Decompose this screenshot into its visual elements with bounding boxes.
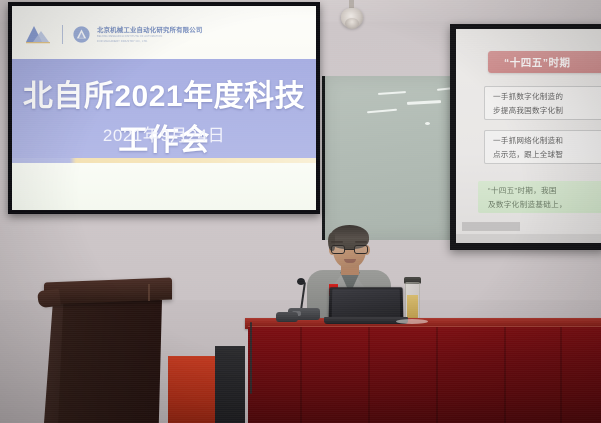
- content-highlight-line-2: 及数字化制造基础上，: [488, 200, 601, 211]
- content-box-2: 一手抓网络化制造和 点示范，跟上全球智: [484, 130, 601, 164]
- company-badge-icon: [73, 26, 90, 43]
- chalk-mark: [367, 109, 397, 114]
- content-box-1-line-1: 一手抓数字化制造的: [493, 92, 601, 103]
- title-slide: 北京机械工业自动化研究所有限公司 BEIJING RESEARCH INSTIT…: [12, 6, 316, 210]
- slide-footer-area: [12, 163, 316, 210]
- podium-seam: [148, 284, 150, 301]
- content-slide-bottom-margin: [456, 234, 601, 243]
- slide-date: 2021年9月24日: [12, 121, 316, 146]
- content-slide-header: “十四五”时期: [488, 51, 601, 73]
- microphone-capsule-icon: [297, 278, 305, 285]
- slide-logo-row: 北京机械工业自动化研究所有限公司 BEIJING RESEARCH INSTIT…: [26, 19, 302, 49]
- glasses-bridge: [345, 249, 354, 250]
- microphone-base-secondary: [276, 312, 298, 322]
- glasses-icon: [331, 245, 368, 255]
- tea-glass: [405, 282, 420, 322]
- podium-body: [56, 300, 162, 423]
- orange-side-object: [168, 356, 220, 423]
- glass-saucer: [396, 319, 428, 324]
- mountain-triangle-logo-icon: [26, 24, 52, 44]
- table-skirt-fold: [368, 327, 370, 423]
- glasses-lens-right: [354, 245, 368, 254]
- microphone-cable: [250, 322, 252, 394]
- podium-lip: [37, 289, 61, 309]
- speaker-mouth: [344, 259, 356, 263]
- content-box-1: 一手抓数字化制造的 步提高我国数字化制: [484, 86, 601, 120]
- conference-room-photo: 北京机械工业自动化研究所有限公司 BEIJING RESEARCH INSTIT…: [0, 0, 601, 423]
- chalk-mark: [378, 91, 406, 95]
- logo-company-name-en-1: BEIJING RESEARCH INSTITUTE OF AUTOMATION: [97, 35, 202, 39]
- whiteboard: [322, 76, 453, 240]
- laptop-screen: [329, 287, 404, 320]
- right-projection-screen: “十四五”时期 一手抓数字化制造的 步提高我国数字化制 一手抓网络化制造和 点示…: [450, 24, 601, 250]
- logo-company-name-cn: 北京机械工业自动化研究所有限公司: [97, 25, 202, 34]
- logo-divider: [62, 25, 63, 44]
- table-skirt-fold: [504, 327, 506, 423]
- table-skirt-fold: [300, 327, 302, 423]
- content-slide-header-text: “十四五”时期: [504, 55, 571, 70]
- content-box-1-line-2: 步提高我国数字化制: [493, 106, 601, 117]
- title-band: 北自所2021年度科技工作会 2021年9月24日: [12, 59, 316, 158]
- speaker-brow-right: [355, 241, 367, 243]
- content-slide: “十四五”时期 一手抓数字化制造的 步提高我国数字化制 一手抓网络化制造和 点示…: [456, 29, 601, 243]
- left-projection-screen: 北京机械工业自动化研究所有限公司 BEIJING RESEARCH INSTIT…: [8, 2, 320, 214]
- content-slide-footer-bar: [462, 222, 520, 231]
- content-box-2-line-1: 一手抓网络化制造和: [493, 136, 601, 147]
- content-box-2-line-2: 点示范，跟上全球智: [493, 150, 601, 161]
- content-highlight-box: “十四五”时期，我国 及数字化制造基础上，: [478, 181, 601, 213]
- logo-text-block: 北京机械工业自动化研究所有限公司 BEIJING RESEARCH INSTIT…: [97, 25, 202, 44]
- glasses-lens-left: [331, 245, 345, 254]
- ceiling-spotlight-icon: [341, 8, 363, 28]
- logo-company-name-en-2: FOR MACHINERY INDUSTRY CO., LTD.: [97, 40, 202, 44]
- tea-liquid: [407, 295, 418, 319]
- chalk-mark: [407, 100, 441, 104]
- content-highlight-line-1: “十四五”时期，我国: [488, 186, 601, 197]
- dark-side-object: [215, 346, 245, 423]
- table-skirt-fold: [560, 327, 562, 423]
- table-skirt-fold: [436, 327, 438, 423]
- chalk-mark: [425, 122, 430, 125]
- speaker-brow-left: [331, 241, 343, 243]
